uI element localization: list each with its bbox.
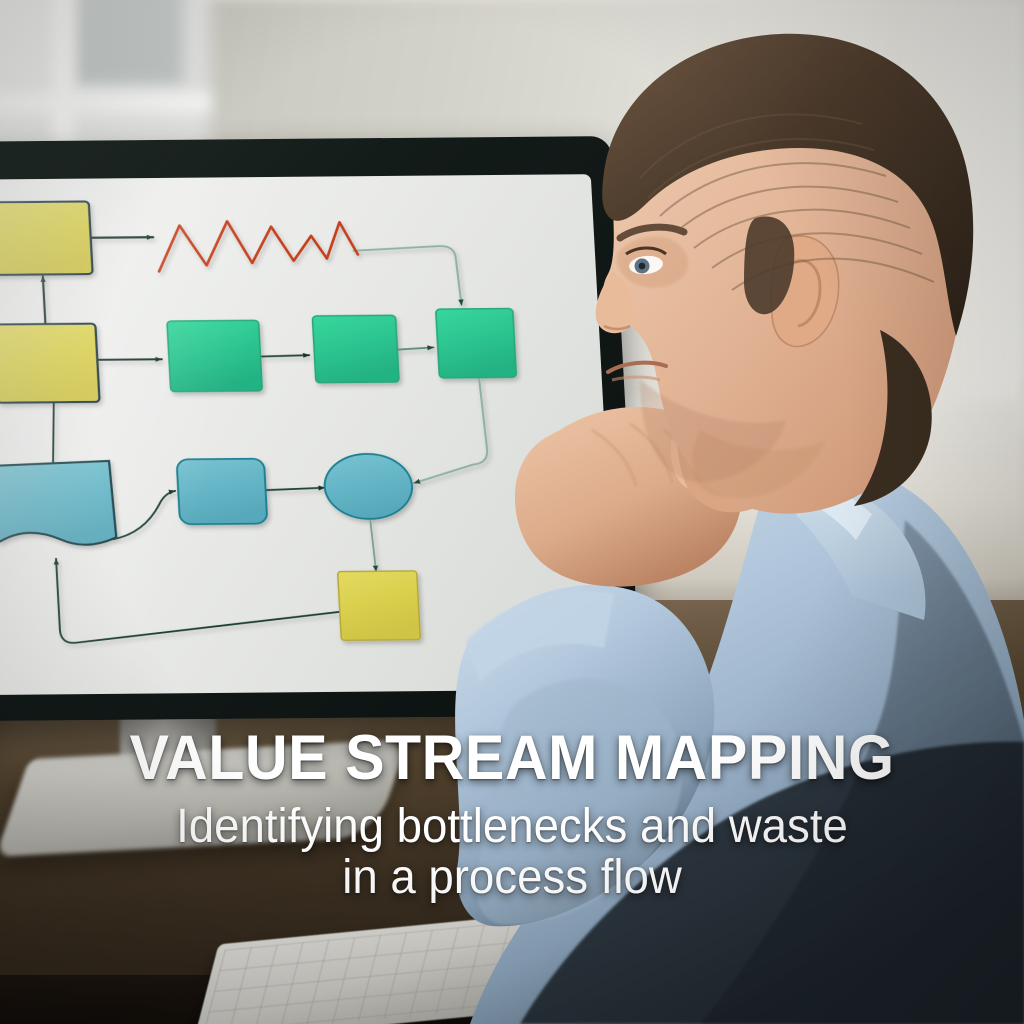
pupil <box>639 263 646 270</box>
person-at-desk <box>0 0 1024 1024</box>
screenshot-root: VALUE STREAM MAPPING Identifying bottlen… <box>0 0 1024 1024</box>
lower-lip <box>612 377 660 380</box>
